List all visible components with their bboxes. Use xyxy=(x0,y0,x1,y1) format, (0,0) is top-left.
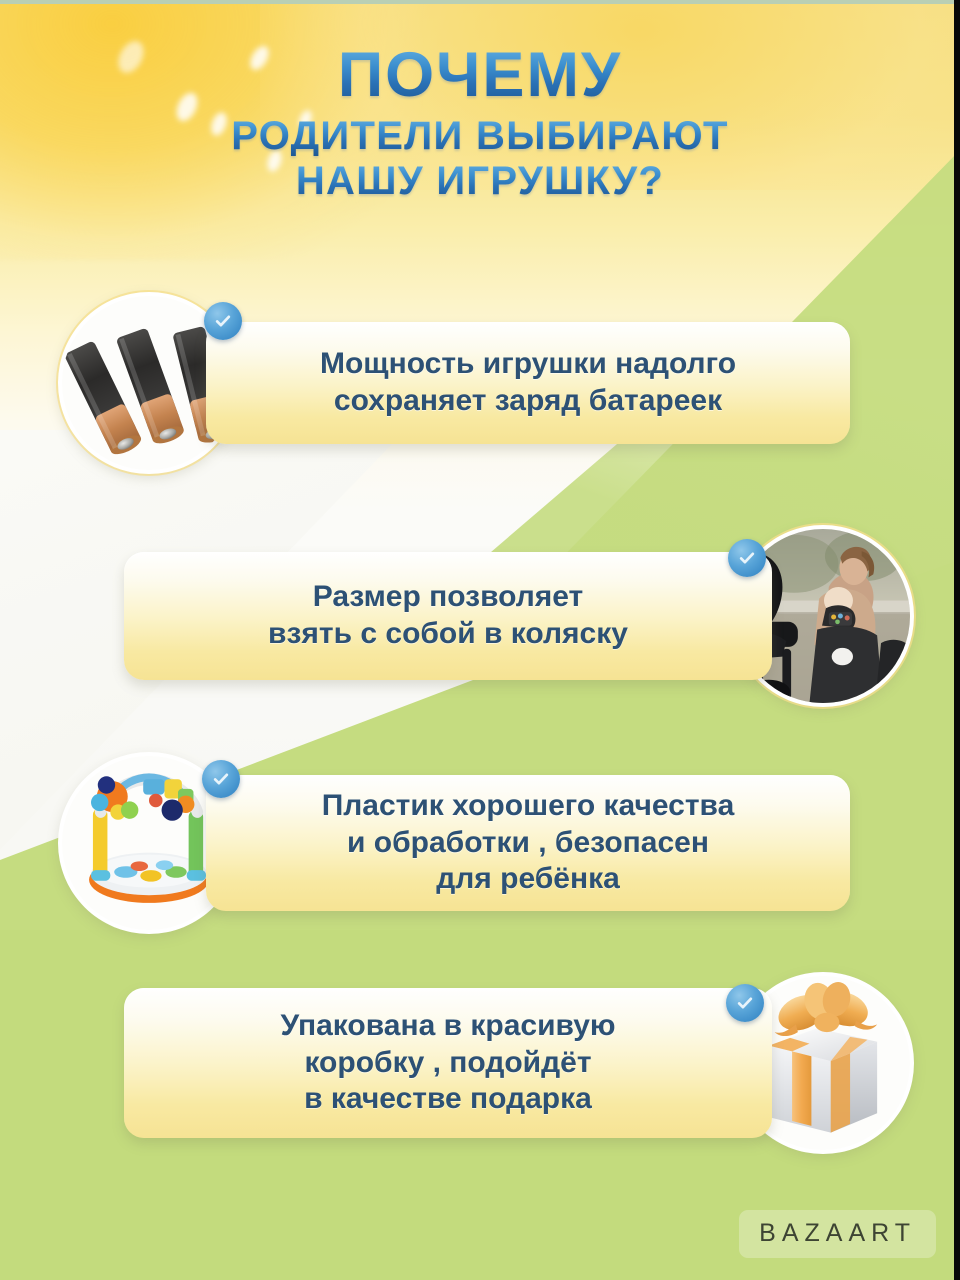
check-glyph xyxy=(211,769,231,789)
watermark-label: BAZAART xyxy=(759,1219,916,1247)
feature-row-stroller: Размер позволяет взять с собой в коляску xyxy=(124,525,914,707)
feature-row-battery: Мощность игрушки надолго сохраняет заряд… xyxy=(58,292,850,474)
feature-card-plastic: Пластик хорошего качества и обработки , … xyxy=(206,775,850,911)
title-line-2: РОДИТЕЛИ ВЫБИРАЮТ xyxy=(0,116,960,156)
promo-poster: ПОЧЕМУ РОДИТЕЛИ ВЫБИРАЮТ НАШУ ИГРУШКУ? xyxy=(0,0,960,1280)
feature-text-battery: Мощность игрушки надолго сохраняет заряд… xyxy=(320,346,736,419)
check-glyph xyxy=(213,311,233,331)
feature-text-stroller: Размер позволяет взять с собой в коляску xyxy=(268,579,628,652)
feature-text-gift: Упакована в красивую коробку , подойдёт … xyxy=(280,1008,615,1118)
right-edge-strip xyxy=(954,0,960,1280)
title-line-1: ПОЧЕМУ xyxy=(0,44,960,107)
bazaart-watermark: BAZAART xyxy=(739,1210,936,1258)
feature-row-gift: Упакована в красивую коробку , подойдёт … xyxy=(124,972,914,1154)
top-edge-strip xyxy=(0,0,960,4)
check-glyph xyxy=(737,548,757,568)
poster-title: ПОЧЕМУ РОДИТЕЛИ ВЫБИРАЮТ НАШУ ИГРУШКУ? xyxy=(0,44,960,201)
check-badge-icon xyxy=(728,539,766,577)
feature-card-gift: Упакована в красивую коробку , подойдёт … xyxy=(124,988,772,1138)
check-badge-icon xyxy=(726,984,764,1022)
feature-row-plastic: Пластик хорошего качества и обработки , … xyxy=(58,752,850,934)
feature-card-battery: Мощность игрушки надолго сохраняет заряд… xyxy=(206,322,850,444)
check-glyph xyxy=(735,993,755,1013)
check-badge-icon xyxy=(202,760,240,798)
check-badge-icon xyxy=(204,302,242,340)
feature-card-stroller: Размер позволяет взять с собой в коляску xyxy=(124,552,772,680)
title-line-3: НАШУ ИГРУШКУ? xyxy=(0,161,960,201)
feature-text-plastic: Пластик хорошего качества и обработки , … xyxy=(322,788,735,898)
